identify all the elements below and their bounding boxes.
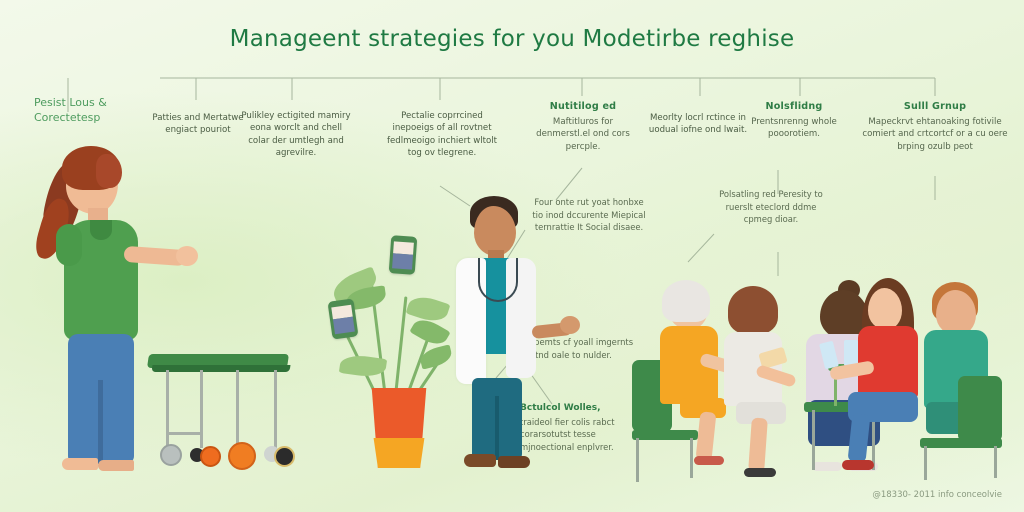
woman-hand (176, 246, 198, 266)
note-right-top-body: Polsatling red Peresity to ruerslt etecl… (719, 189, 823, 224)
bench-leg-3 (236, 370, 239, 448)
woman-jeans (68, 334, 134, 464)
column-8-body: Mapeckrvt ehtanoaking fotivile comiert a… (860, 116, 1010, 153)
doctor-shoe-right (498, 456, 530, 468)
column-5: Nutitilog ed Maftitluros for denmerstl.e… (528, 100, 638, 153)
woman-foot-left (62, 458, 98, 470)
footer-credit: @18330- 2011 info conceolvie (872, 490, 1002, 500)
doctor-shoe-left (464, 454, 496, 467)
column-7: Nolsflidng Prentsnrenng whole pooorotiem… (738, 100, 850, 141)
woman2-sandal (744, 468, 776, 477)
bench-leg-4 (274, 370, 277, 448)
column-2: Patties and Mertatwe engiact pouriot (150, 112, 246, 137)
column-3: Pulikley ectigited mamiry eona worclt an… (240, 110, 352, 160)
woman-foot-right (98, 460, 134, 471)
column-7-heading: Nolsflidng (738, 100, 850, 114)
column-5-heading: Nutitilog ed (528, 100, 638, 114)
figure-doctor (448, 196, 568, 478)
weight-plate-dark-2 (274, 446, 295, 467)
column-1: Pesist Lous & Corectetesp (34, 96, 154, 126)
column-1-heading-line2: Corectetesp (34, 111, 154, 126)
column-4: Pectalie coprrcined inepoeigs of all rov… (380, 110, 504, 160)
chair-green-2 (920, 376, 1006, 480)
column-8: Sulll Grnup Mapeckrvt ehtanoaking fotivi… (860, 100, 1010, 153)
column-3-body: Pulikley ectigited mamiry eona worclt an… (240, 110, 352, 160)
bench-crossbar (166, 432, 202, 435)
column-6: Meorlty locrl rctince in uodual iofne on… (644, 112, 752, 137)
chair-back-2 (958, 376, 1002, 442)
plant-pot-bottom (368, 438, 430, 468)
smartphone-icon-right[interactable] (389, 235, 418, 275)
woman4-face (868, 288, 902, 330)
woman-sleeve (56, 224, 82, 266)
doctor-head (474, 206, 516, 256)
stethoscope-icon (478, 258, 518, 302)
column-2-body: Patties and Mertatwe engiact pouriot (150, 112, 246, 137)
infographic-poster: Manageent strategies for you Modetirbe r… (0, 0, 1024, 512)
chair-leg-2a (924, 446, 927, 480)
doctor-pants (472, 378, 522, 460)
figure-exercise-bench (148, 352, 308, 470)
figure-support-group (632, 278, 1022, 490)
stool-leg-1 (812, 410, 815, 470)
weight-plate-orange-small (200, 446, 221, 467)
column-7-body: Prentsnrenng whole pooorotiem. (738, 116, 850, 141)
note-right-top: Polsatling red Peresity to ruerslt etecl… (710, 188, 832, 226)
page-title: Manageent strategies for you Modetirbe r… (0, 26, 1024, 52)
bench-edge (152, 365, 291, 372)
bench-leg-2 (200, 370, 203, 448)
chair-seat-2 (920, 438, 1002, 448)
bench-wheel-1 (160, 444, 182, 466)
column-6-body: Meorlty locrl rctince in uodual iofne on… (644, 112, 752, 137)
chair-leg-2b (994, 446, 997, 478)
woman-hair-front (96, 154, 122, 188)
person-woman-tablet (716, 292, 800, 480)
column-1-heading-line1: Pesist Lous & (34, 96, 154, 111)
woman4-leg (848, 413, 871, 463)
column-8-heading: Sulll Grnup (860, 100, 1010, 114)
elderly-leg (696, 411, 717, 460)
person-man-teal-shirt (910, 284, 1000, 476)
woman4-shoe (842, 460, 874, 470)
column-4-body: Pectalie coprrcined inepoeigs of all rov… (380, 110, 504, 160)
smartphone-icon-left[interactable] (327, 298, 358, 339)
woman2-hair (728, 286, 778, 334)
elderly-white-hair (662, 280, 710, 322)
column-5-body: Maftitluros for denmerstl.el ond cors pe… (528, 116, 638, 153)
chair-leg-1a (636, 438, 639, 482)
weight-plate-orange-large (228, 442, 256, 470)
bench-leg-1 (166, 370, 169, 448)
doctor-hand (560, 316, 580, 334)
figure-potted-plant (320, 230, 450, 470)
woman2-leg (748, 418, 768, 473)
